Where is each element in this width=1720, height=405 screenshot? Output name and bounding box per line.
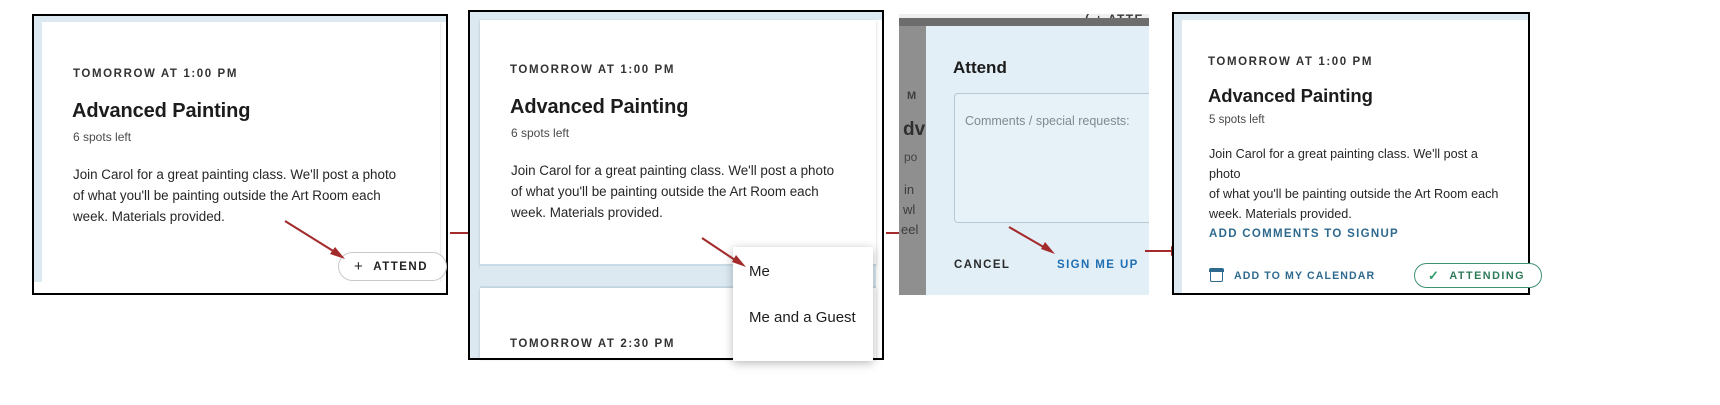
card-edge-stripe-left (34, 16, 42, 293)
event-description-line-3: week. Materials provided. (511, 202, 856, 223)
event-description-line-1: Join Carol for a great painting class. W… (1209, 144, 1499, 184)
panel-1-frame: TOMORROW AT 1:00 PM Advanced Painting 6 … (32, 14, 448, 295)
check-icon: ✓ (1428, 269, 1440, 282)
calendar-icon (1210, 269, 1223, 282)
ghost-spots: po (904, 150, 917, 164)
event-description-line-3: week. Materials provided. (73, 206, 413, 227)
event-card-signed-up[interactable]: TOMORROW AT 1:00 PM Advanced Painting 5 … (1182, 20, 1528, 293)
event-description: Join Carol for a great painting class. W… (1209, 144, 1499, 224)
event-description-line-3: week. Materials provided. (1209, 204, 1499, 224)
event-spots-left: 5 spots left (1209, 114, 1265, 126)
event-card-with-dropdown[interactable]: TOMORROW AT 1:00 PM Advanced Painting 6 … (480, 20, 876, 266)
comments-textarea[interactable]: Comments / special requests: (954, 93, 1149, 223)
arrow-to-sign-me-up (1007, 225, 1065, 263)
card-edge-stripe-bottom (34, 282, 446, 293)
arrow-to-attend-button (283, 218, 355, 266)
panel2-edge-stripe-left (470, 12, 480, 358)
ghost-when: M (907, 90, 918, 102)
modal-scrim-top-bar (899, 18, 1149, 26)
panel4-edge-stripe-left (1174, 14, 1182, 293)
next-event-when: TOMORROW AT 2:30 PM (510, 338, 675, 350)
event-description-line-2: of what you'll be painting outside the A… (511, 181, 856, 202)
event-when: TOMORROW AT 1:00 PM (1208, 56, 1373, 68)
event-spots-left: 6 spots left (511, 126, 569, 140)
event-title: Advanced Painting (510, 96, 688, 119)
event-description-line-1: Join Carol for a great painting class. W… (511, 160, 856, 181)
add-comments-to-signup-button[interactable]: ADD COMMENTS TO SIGNUP (1209, 228, 1399, 240)
event-spots-left: 6 spots left (73, 130, 131, 144)
dropdown-item-me-and-a-guest[interactable]: Me and a Guest (749, 309, 856, 326)
arrow-to-dropdown-me (700, 236, 756, 276)
attending-button[interactable]: ✓ ATTENDING (1414, 263, 1542, 288)
event-title: Advanced Painting (72, 100, 250, 123)
cancel-button[interactable]: CANCEL (954, 259, 1010, 271)
modal-title: Attend (953, 58, 1007, 78)
event-description-line-1: Join Carol for a great painting class. W… (73, 164, 413, 185)
attend-button-label: ATTEND (373, 261, 428, 273)
ghost-desc-line-3: eel (901, 222, 918, 237)
event-title: Advanced Painting (1208, 85, 1373, 107)
comments-placeholder: Comments / special requests: (965, 114, 1130, 128)
card-edge-stripe-top (34, 16, 446, 22)
event-description-line-2: of what you'll be painting outside the A… (73, 185, 413, 206)
event-when: TOMORROW AT 1:00 PM (73, 68, 238, 80)
sign-me-up-button[interactable]: SIGN ME UP (1057, 259, 1139, 271)
event-description-line-2: of what you'll be painting outside the A… (1209, 184, 1499, 204)
event-description: Join Carol for a great painting class. W… (511, 160, 856, 223)
panel-4-frame: TOMORROW AT 1:00 PM Advanced Painting 5 … (1172, 12, 1530, 295)
ghost-desc-line-2: wl (903, 202, 915, 217)
add-to-my-calendar-button[interactable]: ADD TO MY CALENDAR (1234, 270, 1375, 282)
panel2-edge-stripe-top (470, 12, 882, 20)
screenshot-stage: TOMORROW AT 1:00 PM Advanced Painting 6 … (0, 0, 1720, 405)
event-when: TOMORROW AT 1:00 PM (510, 64, 675, 76)
ghost-title: dv (903, 119, 925, 141)
ghost-desc-line-1: in (904, 182, 914, 197)
event-description: Join Carol for a great painting class. W… (73, 164, 413, 227)
event-card-initial[interactable]: TOMORROW AT 1:00 PM Advanced Painting 6 … (42, 22, 440, 282)
plus-icon: + (354, 259, 364, 274)
attending-button-label: ATTENDING (1449, 270, 1525, 282)
